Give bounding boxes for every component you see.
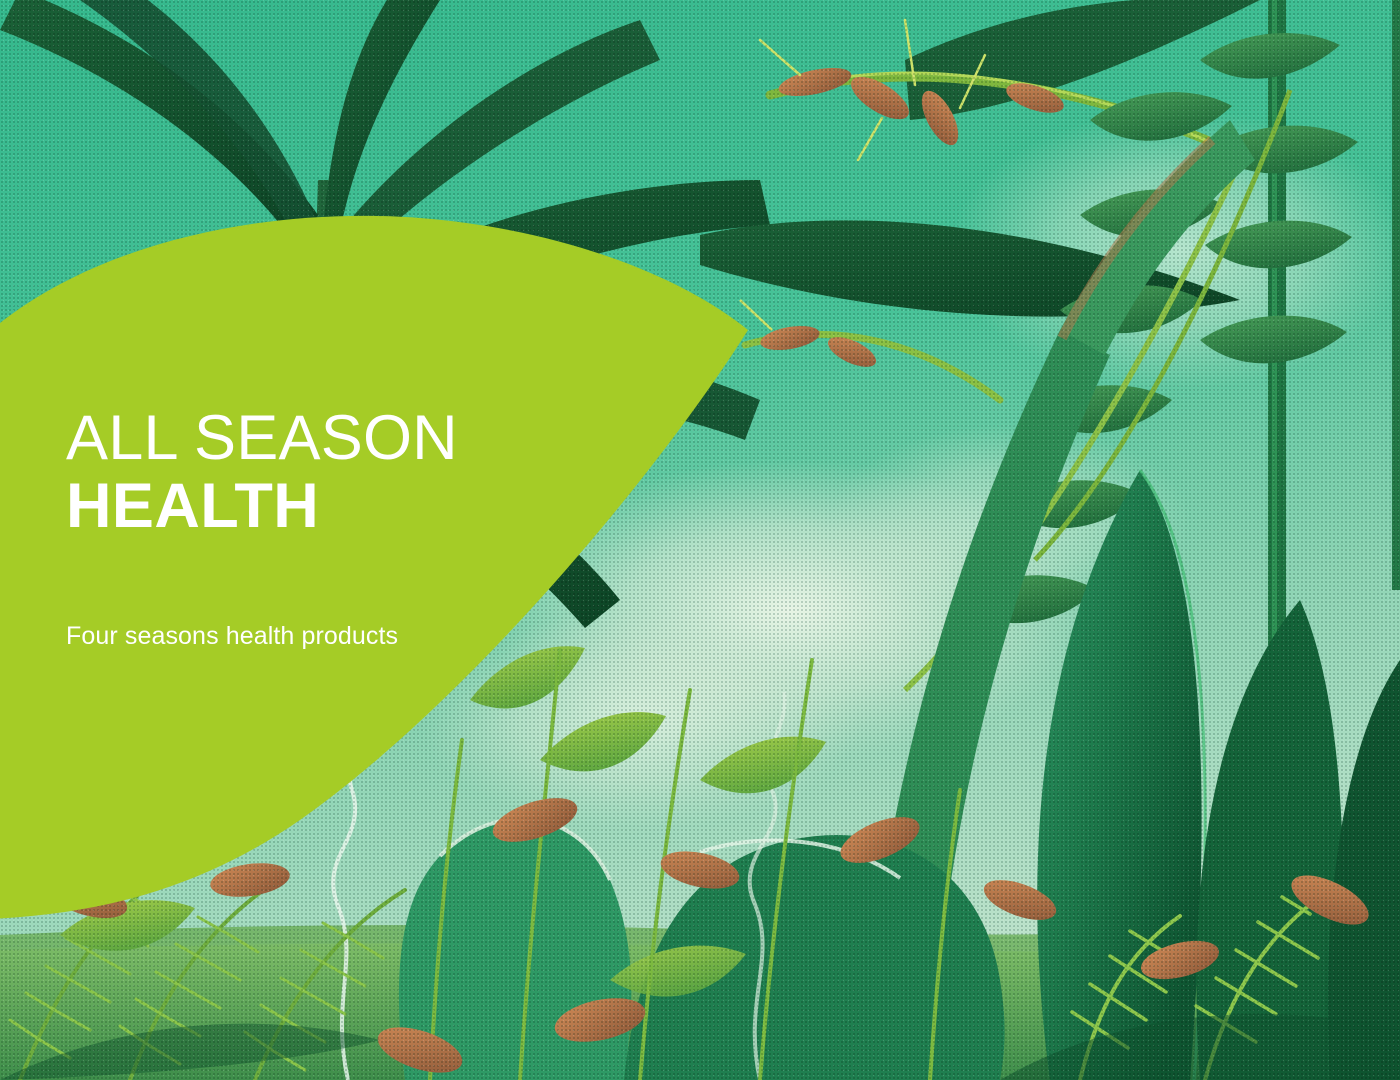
headline-line-2: HEALTH <box>66 472 526 540</box>
poster-canvas: ALL SEASON HEALTH Four seasons health pr… <box>0 0 1400 1080</box>
page-title: ALL SEASON HEALTH <box>66 404 526 540</box>
headline-block: ALL SEASON HEALTH Four seasons health pr… <box>66 404 526 653</box>
headline-line-1: ALL SEASON <box>66 403 458 473</box>
subtitle: Four seasons health products <box>66 540 526 653</box>
